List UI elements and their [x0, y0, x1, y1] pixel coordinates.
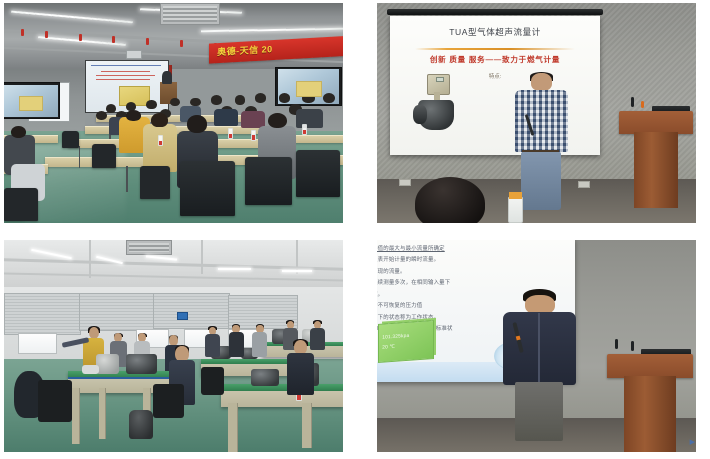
roller-blind [79, 293, 156, 331]
jacket-zipper [538, 313, 540, 382]
stacking-chair [201, 367, 225, 395]
podium-column [624, 376, 676, 452]
slide-line: 个区使所有现的流量。 [377, 267, 575, 275]
trainee [228, 325, 245, 357]
ceiling-post [201, 240, 203, 274]
workbench-front-right [221, 384, 343, 407]
waste-bin [129, 410, 153, 440]
presenter-plaid-shirt [515, 90, 568, 153]
cube-pressure-label: 101.325kpa [382, 334, 409, 341]
photo-collage-grid: 奥德-天信 20 [0, 0, 710, 459]
projector [126, 50, 142, 59]
flow-meter-unit [126, 354, 157, 373]
standard-condition-cube: 101.325kpa 20 ℃ [378, 320, 434, 363]
wall-tv-left [4, 82, 60, 119]
office-chair [62, 131, 79, 149]
light-tube [282, 270, 313, 272]
banner-text: 奥德-天信 20 [218, 42, 274, 58]
bench-leg [302, 403, 312, 448]
trainee [251, 325, 268, 357]
attendee-head [268, 113, 287, 128]
bench-leg [228, 403, 238, 452]
trainee-foreground [285, 340, 316, 395]
office-chair [296, 150, 340, 196]
body [287, 353, 314, 395]
water-bottle [158, 135, 163, 146]
presenter [498, 289, 581, 442]
roller-blind [4, 293, 81, 335]
flow-meter-unit [251, 369, 278, 386]
ceiling-hook [146, 38, 149, 45]
attendee-body [296, 109, 323, 129]
desk-leg [126, 166, 128, 192]
paper-stack [82, 365, 99, 373]
ceiling-vent [160, 3, 220, 25]
slide-line [96, 79, 150, 80]
presenter-head [531, 73, 552, 91]
attendee-head [151, 113, 168, 127]
attendee-head [11, 126, 26, 138]
body [229, 332, 244, 356]
presenter [505, 73, 578, 209]
light-tube [218, 268, 252, 270]
ceiling-vent [126, 240, 172, 255]
stacking-chair [38, 380, 72, 422]
window [18, 333, 57, 354]
attendee-head [255, 93, 267, 103]
podium-microphone [615, 339, 618, 349]
ceiling-hook [45, 31, 48, 38]
slide-divider [415, 48, 575, 50]
water-bottle [508, 197, 523, 223]
slide-line [101, 71, 150, 72]
podium [607, 354, 693, 452]
slide-line [91, 65, 161, 66]
bench-leg [99, 388, 106, 439]
cube-temperature-label: 20 ℃ [382, 344, 395, 350]
photo-bottom-left [4, 240, 343, 452]
body [205, 334, 220, 357]
ceiling-hook [21, 29, 24, 36]
tv-content [296, 81, 322, 96]
meter-display [436, 77, 444, 82]
office-chair [245, 157, 292, 205]
desk-leg [79, 146, 81, 168]
attendee-head [187, 115, 207, 133]
presenter-trousers [515, 382, 563, 442]
attendee-body [214, 109, 238, 127]
water-bottle [302, 124, 307, 135]
office-chair [140, 166, 171, 199]
attendee-head [279, 93, 291, 103]
flow-meter-unit [96, 354, 120, 373]
slide-subtitle: 创新 质量 服务——致力于燃气计量 [390, 54, 601, 65]
photo-top-right: TUA型气体超声流量计 创新 质量 服务——致力于燃气计量 特点: 精度高 量程… [377, 3, 696, 223]
attendee-head [126, 110, 141, 121]
office-chair [4, 188, 38, 221]
body [252, 332, 267, 356]
tv-content [19, 96, 43, 111]
screen-roller [387, 9, 604, 16]
attendee-head [190, 98, 200, 107]
flow-meter-illustration [413, 74, 459, 132]
water-bottle [251, 130, 256, 141]
slide-line: 间一方法连续测量多次，在相同输入量下 [377, 278, 575, 286]
roller-blind [153, 293, 230, 329]
attendee-head [106, 104, 116, 113]
ceiling-hook [180, 40, 183, 47]
slide-title: TUA型气体超声流量计 [390, 26, 601, 38]
attendee-head [323, 93, 335, 103]
slide-line [96, 75, 155, 76]
wall-socket [578, 181, 590, 188]
attendee-head [235, 95, 246, 104]
wall-socket [399, 179, 411, 186]
photo-top-left: 奥德-天信 20 [4, 3, 343, 223]
podium-top [607, 354, 693, 377]
podium [619, 111, 692, 208]
water-bottle [228, 128, 233, 139]
bench-top [221, 384, 343, 391]
podium-top [619, 111, 692, 134]
slide-line: 步增大，仪表开始计量的瞬时流量。 [377, 255, 575, 263]
speaker [162, 71, 172, 84]
attendee-head [211, 95, 222, 104]
page-marker-icon: ▶ [690, 438, 695, 446]
exit-sign [177, 312, 188, 320]
podium-column [634, 132, 678, 208]
photo-bottom-right: 不超过允许值的最大与最小流量所确定 步增大，仪表开始计量的瞬时流量。 个区使所有… [377, 240, 696, 452]
slide-line: 不超过允许值的最大与最小流量所确定 [377, 244, 575, 252]
bench-leg [72, 388, 80, 443]
attendee-head [146, 100, 156, 109]
stacking-chair [153, 384, 184, 418]
podium-microphone [631, 341, 634, 351]
trainee [204, 327, 221, 357]
slide-features-label: 特点: [489, 72, 502, 80]
ceiling-hook [79, 34, 82, 41]
office-chair [92, 144, 116, 168]
ceiling-post [89, 240, 91, 278]
presenter-jeans [521, 152, 561, 209]
meter-flange [413, 105, 427, 125]
podium-microphone [631, 97, 634, 107]
office-chair [180, 161, 234, 216]
